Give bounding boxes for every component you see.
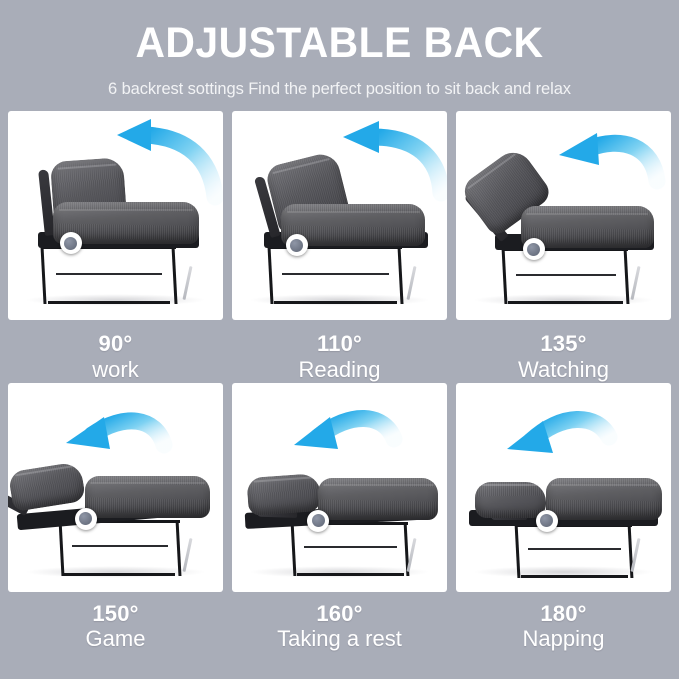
back-cushion xyxy=(247,473,323,516)
back-cushion xyxy=(8,461,86,512)
position-card-110[interactable]: 110° Reading xyxy=(232,111,447,382)
recline-chair-icon xyxy=(456,383,671,592)
recline-chair-icon xyxy=(8,383,223,592)
adjustable-back-infographic: ADJUSTABLE BACK 6 backrest sottings Find… xyxy=(0,0,679,679)
chair-support-strut xyxy=(630,266,640,300)
position-image-135 xyxy=(456,111,671,320)
chair-base-frame xyxy=(516,524,632,578)
recline-chair-icon xyxy=(456,111,671,320)
caption-160: 160° Taking a rest xyxy=(277,602,402,652)
recline-arrow-icon xyxy=(337,127,445,203)
caption-180: 180° Napping xyxy=(523,602,605,652)
chair-base-frame xyxy=(503,248,628,304)
chair-support-strut xyxy=(182,538,192,572)
recline-arrow-icon xyxy=(288,409,396,485)
recline-chair-icon xyxy=(232,111,447,320)
recline-knob[interactable] xyxy=(536,510,558,532)
page-title: ADJUSTABLE BACK xyxy=(17,20,662,67)
caption-150: 150° Game xyxy=(86,602,146,652)
use-label: Taking a rest xyxy=(277,627,402,652)
use-label: Watching xyxy=(518,358,609,383)
position-card-90[interactable]: 90° work xyxy=(8,111,223,382)
recline-arrow-icon xyxy=(553,131,661,207)
recline-knob[interactable] xyxy=(307,510,329,532)
recline-chair-icon xyxy=(232,383,447,592)
caption-135: 135° Watching xyxy=(518,332,609,382)
chair-base-frame xyxy=(42,246,175,304)
chair-base-frame xyxy=(60,520,180,576)
chair-base-frame xyxy=(269,246,402,304)
recline-knob[interactable] xyxy=(286,234,308,256)
use-label: Game xyxy=(86,627,146,652)
caption-90: 90° work xyxy=(92,332,138,382)
chair-support-strut xyxy=(406,266,416,300)
angle-label: 110° xyxy=(299,332,381,357)
chair-support-strut xyxy=(182,266,192,300)
recline-knob[interactable] xyxy=(75,508,97,530)
angle-label: 160° xyxy=(277,602,402,627)
positions-grid: 90° work xyxy=(0,111,679,652)
seat-cushion xyxy=(546,478,662,520)
recline-chair-icon xyxy=(8,111,223,320)
recline-knob[interactable] xyxy=(60,232,82,254)
page-subtitle: 6 backrest sottings Find the perfect pos… xyxy=(0,80,679,99)
position-image-90 xyxy=(8,111,223,320)
position-image-180 xyxy=(456,383,671,592)
use-label: Reading xyxy=(299,358,381,383)
position-card-180[interactable]: 180° Napping xyxy=(456,383,671,652)
angle-label: 180° xyxy=(523,602,605,627)
angle-label: 90° xyxy=(92,332,138,357)
caption-110: 110° Reading xyxy=(299,332,381,382)
recline-knob[interactable] xyxy=(523,238,545,260)
recline-arrow-icon xyxy=(111,125,219,201)
position-card-135[interactable]: 135° Watching xyxy=(456,111,671,382)
back-cushion xyxy=(475,482,546,518)
angle-label: 135° xyxy=(518,332,609,357)
position-card-160[interactable]: 160° Taking a rest xyxy=(232,383,447,652)
seat-cushion xyxy=(318,478,438,520)
position-image-160 xyxy=(232,383,447,592)
angle-label: 150° xyxy=(86,602,146,627)
seat-cushion xyxy=(85,476,210,518)
use-label: work xyxy=(92,358,138,383)
position-card-150[interactable]: 150° Game xyxy=(8,383,223,652)
header: ADJUSTABLE BACK 6 backrest sottings Find… xyxy=(0,0,679,99)
position-image-110 xyxy=(232,111,447,320)
use-label: Napping xyxy=(523,627,605,652)
position-image-150 xyxy=(8,383,223,592)
chair-base-frame xyxy=(292,522,408,576)
recline-arrow-icon xyxy=(503,411,611,487)
